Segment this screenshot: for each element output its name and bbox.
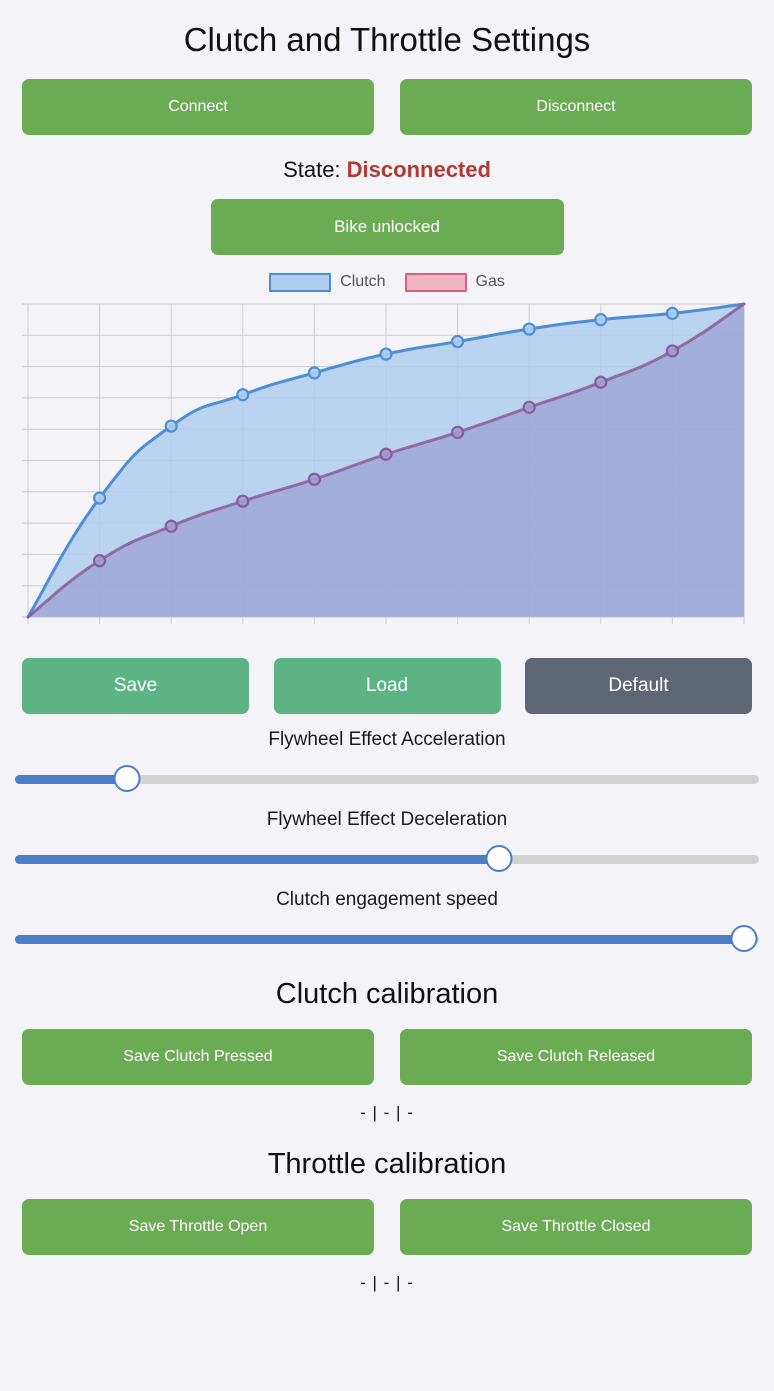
slider-label-clutch-engagement-speed: Clutch engagement speed [0,888,774,912]
slider-clutch-engagement-speed[interactable] [15,924,759,954]
app-root: Clutch and Throttle Settings Connect Dis… [0,0,774,1391]
save-throttle-closed-button[interactable]: Save Throttle Closed [400,1199,752,1255]
clutch-throttle-chart[interactable] [0,299,774,625]
save-throttle-open-button[interactable]: Save Throttle Open [22,1199,374,1255]
bike-lock-toggle-button[interactable]: Bike unlocked [211,199,564,255]
state-label: State: [283,157,340,182]
chart-legend: Clutch Gas [0,271,774,293]
clutch-calibration-title: Clutch calibration [0,976,774,1012]
legend-item-gas: Gas [405,273,505,292]
save-clutch-released-button[interactable]: Save Clutch Released [400,1029,752,1085]
slider-fill [15,935,744,944]
save-clutch-pressed-button[interactable]: Save Clutch Pressed [22,1029,374,1085]
slider-fill [15,775,127,784]
slider-label-flywheel-acceleration: Flywheel Effect Acceleration [0,728,774,752]
slider-row-clutch-engagement-speed [0,924,774,954]
slider-flywheel-acceleration[interactable] [15,764,759,794]
throttle-calibration-values: - | - | - [0,1272,774,1294]
slider-thumb[interactable] [113,765,140,792]
disconnect-button[interactable]: Disconnect [400,79,752,135]
curve-chart-svg[interactable] [22,299,752,625]
slider-fill [15,855,499,864]
slider-thumb[interactable] [485,845,512,872]
slider-thumb[interactable] [731,925,758,952]
legend-label-gas: Gas [476,273,505,291]
slider-flywheel-deceleration[interactable] [15,844,759,874]
save-button[interactable]: Save [22,658,249,714]
slider-row-flywheel-acceleration [0,764,774,794]
page-title: Clutch and Throttle Settings [0,0,774,60]
clutch-color-swatch-icon [269,273,331,292]
connect-button[interactable]: Connect [22,79,374,135]
status-badge: Disconnected [347,157,491,182]
slider-label-flywheel-deceleration: Flywheel Effect Deceleration [0,808,774,832]
connection-state: State: Disconnected [0,157,774,183]
load-button[interactable]: Load [274,658,501,714]
default-button[interactable]: Default [525,658,752,714]
gas-color-swatch-icon [405,273,467,292]
clutch-calibration-row: Save Clutch Pressed Save Clutch Released [0,1029,774,1085]
slider-row-flywheel-deceleration [0,844,774,874]
profile-action-row: Save Load Default [0,658,774,714]
throttle-calibration-title: Throttle calibration [0,1146,774,1182]
connection-button-row: Connect Disconnect [0,79,774,135]
throttle-calibration-row: Save Throttle Open Save Throttle Closed [0,1199,774,1255]
bike-lock-row: Bike unlocked [0,199,774,255]
legend-label-clutch: Clutch [340,273,385,291]
legend-item-clutch: Clutch [269,273,385,292]
clutch-calibration-values: - | - | - [0,1102,774,1124]
